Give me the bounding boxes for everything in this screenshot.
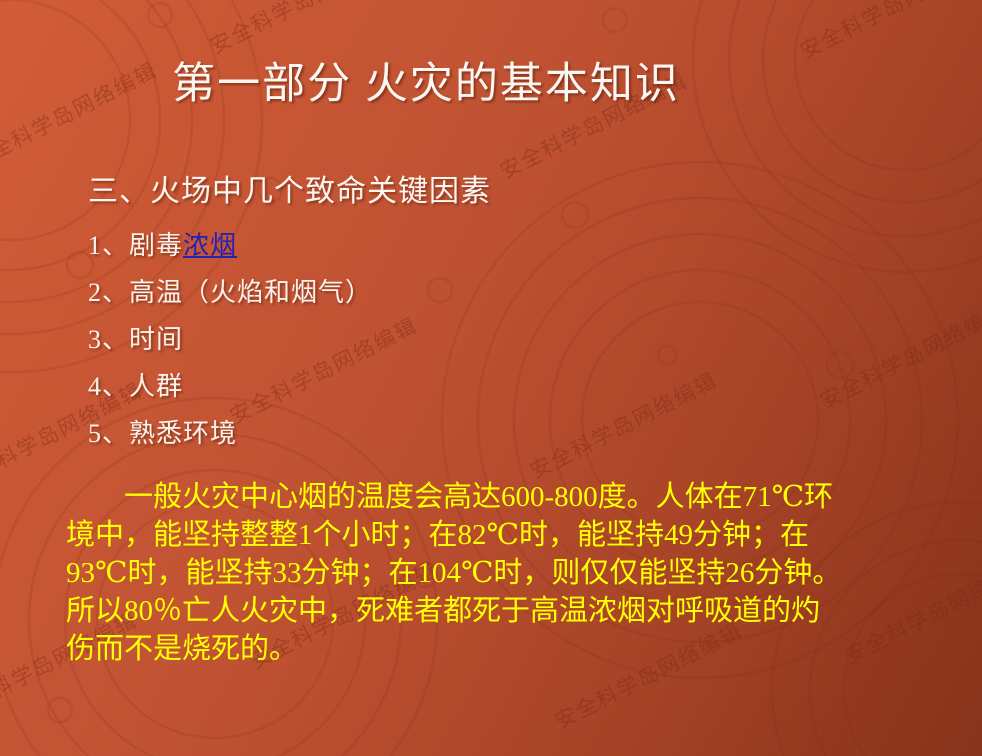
slide-content-area: 三、火场中几个致命关键因素 1、剧毒浓烟 2、高温（火焰和烟气） 3、时间 4、… — [0, 0, 982, 756]
list-item-label: 人群 — [129, 372, 183, 401]
list-item-number: 2、 — [88, 278, 129, 307]
list-item-label: 时间 — [129, 325, 183, 354]
body-paragraph: 一般火灾中心烟的温度会高达600-800度。人体在71℃环境中，能坚持整整1个小… — [66, 478, 846, 668]
list-item-number: 1、 — [88, 231, 129, 260]
presentation-slide: 安全科学岛网络编辑 安全科学岛网络编辑 安全科学岛网络编辑 安全科学岛网络编辑 … — [0, 0, 982, 756]
list-item-number: 4、 — [88, 372, 129, 401]
list-item-number: 5、 — [88, 419, 129, 448]
list-item-label: 剧毒 — [129, 231, 183, 260]
list-item-number: 3、 — [88, 325, 129, 354]
list-item-label: 熟悉环境 — [129, 419, 237, 448]
list-item-label: 高温（火焰和烟气） — [129, 278, 372, 307]
key-factors-list: 1、剧毒浓烟 2、高温（火焰和烟气） 3、时间 4、人群 5、熟悉环境 — [88, 222, 372, 457]
section-heading: 三、火场中几个致命关键因素 — [88, 172, 491, 212]
list-item: 3、时间 — [88, 316, 372, 363]
list-item: 5、熟悉环境 — [88, 410, 372, 457]
hyperlink-dense-smoke[interactable]: 浓烟 — [183, 231, 237, 260]
list-item: 2、高温（火焰和烟气） — [88, 269, 372, 316]
list-item: 1、剧毒浓烟 — [88, 222, 372, 269]
list-item: 4、人群 — [88, 363, 372, 410]
